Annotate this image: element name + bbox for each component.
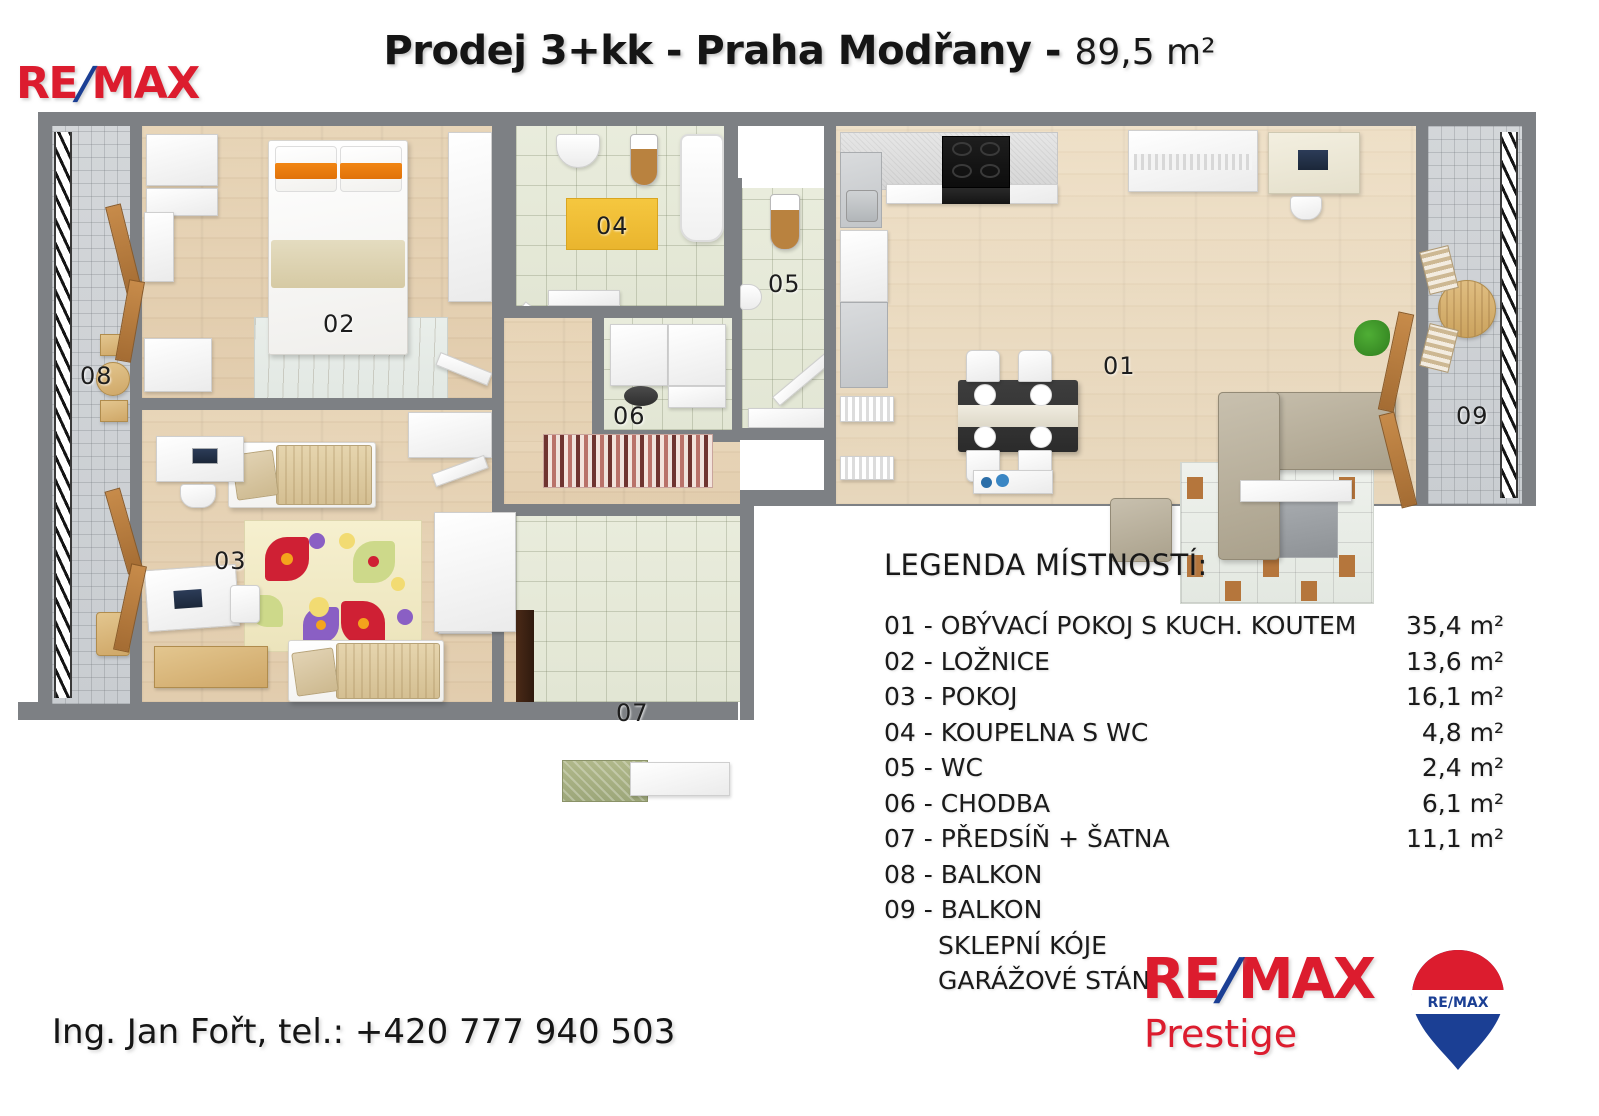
legend-room-area: 16,1 m² — [1374, 679, 1504, 715]
wall-04-bottom — [504, 306, 740, 318]
monitor-top — [192, 448, 218, 464]
low-bench-03 — [154, 646, 268, 688]
wall-05-bottom — [730, 428, 836, 440]
wall-nook-left — [592, 318, 604, 442]
desk-01-monitor — [1298, 150, 1328, 170]
bedroom-door-panel — [448, 132, 492, 302]
wall-01-left — [824, 126, 836, 506]
room-03-wardrobe — [408, 412, 492, 458]
bed-bottom-pillows — [291, 647, 339, 696]
dining-chair-2 — [1018, 350, 1052, 382]
legend-room-area: 13,6 m² — [1374, 644, 1504, 680]
bed-bottom-mattress — [336, 643, 440, 699]
cooktop-burner-3 — [952, 164, 972, 178]
tv-console-detail — [1134, 154, 1252, 170]
wc-threshold — [748, 408, 828, 428]
dining-table-runner — [958, 405, 1078, 427]
toilet-05-icon — [770, 194, 800, 250]
bedroom-window-unit — [144, 212, 174, 282]
remax-prestige-logo: RE/MAX Prestige RE/MAX — [1142, 952, 1542, 1082]
legend-room-area: 2,4 m² — [1374, 750, 1504, 786]
balcony-08-chair-seat — [100, 400, 128, 422]
balloon-remax-text: RE/MAX — [1427, 995, 1488, 1011]
tv-low-console-right — [1240, 480, 1352, 502]
legend: LEGENDA MÍSTNOSTÍ: 01 - OBÝVACÍ POKOJ S … — [884, 548, 1504, 999]
bed-top-mattress — [276, 445, 372, 505]
radiator-01-left — [840, 396, 894, 422]
plate-1 — [974, 384, 996, 406]
balcony-08-stool — [96, 362, 130, 396]
monitor-bottom — [173, 589, 202, 609]
hallway-runner-rug — [543, 434, 713, 488]
legend-room-area: 11,1 m² — [1374, 821, 1504, 857]
remax-logo-top: RE/MAX — [16, 62, 199, 106]
dryer-unit — [668, 324, 726, 386]
plate-2 — [1030, 384, 1052, 406]
wall-outer-bottom-left — [18, 702, 738, 720]
bed-throw-orange-left — [275, 163, 337, 179]
legend-row: 04 - KOUPELNA S WC4,8 m² — [884, 715, 1504, 751]
plate-3 — [974, 426, 996, 448]
chair-bottom — [230, 585, 260, 623]
legend-room-area: 4,8 m² — [1374, 715, 1504, 751]
bathroom-threshold — [548, 290, 620, 306]
legend-room-name: 03 - POKOJ — [884, 679, 1374, 715]
remax-prestige-subtext: Prestige — [1144, 1012, 1297, 1056]
kitchen-tall-cabinet — [840, 302, 888, 388]
entry-bench — [630, 762, 730, 796]
bathroom-mat — [566, 198, 658, 250]
bed-throw-orange-right — [340, 163, 402, 179]
legend-row: 03 - POKOJ16,1 m² — [884, 679, 1504, 715]
legend-room-name: 07 - PŘEDSÍŇ + ŠATNA — [884, 821, 1374, 857]
bed-blanket — [271, 240, 405, 288]
sofa-chaise — [1218, 392, 1280, 560]
title-main: Prodej 3+kk - Praha Modřany - — [383, 28, 1074, 74]
dryer-drawer — [668, 386, 726, 408]
cooktop-burner-2 — [980, 142, 1000, 156]
legend-room-name: 08 - BALKON — [884, 857, 1374, 893]
oven-front — [942, 188, 1010, 204]
cooktop-icon — [942, 136, 1010, 188]
remax-re-text: RE — [16, 58, 77, 109]
legend-room-name: 04 - KOUPELNA S WC — [884, 715, 1374, 751]
wall-outer-left — [38, 112, 52, 712]
balcony-08-railing — [54, 132, 72, 698]
wall-02-03 — [142, 398, 492, 410]
legend-row: 05 - WC2,4 m² — [884, 750, 1504, 786]
plant-icon — [1354, 320, 1390, 356]
page-title: Prodej 3+kk - Praha Modřany - 89,5 m² — [0, 28, 1599, 74]
contact-line: Ing. Jan Fořt, tel.: +420 777 940 503 — [52, 1012, 675, 1052]
legend-room-name: 02 - LOŽNICE — [884, 644, 1374, 680]
wardrobe-07 — [434, 512, 516, 632]
legend-room-area: 6,1 m² — [1374, 786, 1504, 822]
legend-row: 06 - CHODBA6,1 m² — [884, 786, 1504, 822]
legend-row: 02 - LOŽNICE13,6 m² — [884, 644, 1504, 680]
legend-room-name: 05 - WC — [884, 750, 1374, 786]
legend-row: 01 - OBÝVACÍ POKOJ S KUCH. KOUTEM35,4 m² — [884, 608, 1504, 644]
washer-door-icon — [624, 386, 658, 406]
legend-rows: 01 - OBÝVACÍ POKOJ S KUCH. KOUTEM35,4 m²… — [884, 608, 1504, 928]
washer-unit — [610, 324, 668, 386]
bedroom-wardrobe — [146, 134, 218, 186]
toilet-04-icon — [630, 134, 658, 186]
bedroom-side-cabinet — [144, 338, 212, 392]
remax-balloon-icon: RE/MAX — [1410, 948, 1506, 1072]
console-knob-2 — [996, 474, 1009, 487]
bathtub-icon — [680, 134, 724, 242]
floorplan-page: Prodej 3+kk - Praha Modřany - 89,5 m² RE… — [0, 0, 1599, 1116]
remax-max-text: MAX — [92, 58, 199, 109]
wall-outer-right — [1522, 112, 1536, 504]
remax-re-text-bottom: RE — [1142, 947, 1219, 1012]
title-area: 89,5 m² — [1074, 32, 1215, 73]
legend-room-area: 35,4 m² — [1374, 608, 1504, 644]
wall-01-09 — [1416, 126, 1428, 504]
legend-room-name: 09 - BALKON — [884, 892, 1374, 928]
chair-top — [180, 484, 216, 508]
wall-07-top — [504, 504, 752, 516]
dining-chair-1 — [966, 350, 1000, 382]
remax-max-text-bottom: MAX — [1238, 947, 1374, 1012]
legend-room-name: 06 - CHODBA — [884, 786, 1374, 822]
entry-dark-strip — [516, 610, 534, 702]
legend-heading: LEGENDA MÍSTNOSTÍ: — [884, 548, 1504, 582]
wall-04-left — [504, 126, 516, 306]
legend-room-name: 01 - OBÝVACÍ POKOJ S KUCH. KOUTEM — [884, 608, 1374, 644]
legend-row: 09 - BALKON — [884, 892, 1504, 928]
console-knob-1 — [981, 477, 992, 488]
wall-outer-top — [38, 112, 1536, 126]
legend-row: 08 - BALKON — [884, 857, 1504, 893]
cooktop-burner-4 — [980, 164, 1000, 178]
desk-01-chair — [1290, 196, 1322, 220]
plate-4 — [1030, 426, 1052, 448]
sink-kitchen-icon — [846, 190, 878, 222]
cooktop-burner-1 — [952, 142, 972, 156]
fridge — [840, 230, 888, 302]
remax-wordmark-bottom: RE/MAX — [1142, 952, 1374, 1008]
balcony-09-railing — [1500, 132, 1518, 498]
wall-07-right — [740, 504, 754, 720]
legend-row: 07 - PŘEDSÍŇ + ŠATNA11,1 m² — [884, 821, 1504, 857]
room-07-entry — [516, 516, 740, 702]
radiator-01-left-2 — [840, 456, 894, 480]
kids-flower-rug — [244, 520, 422, 652]
